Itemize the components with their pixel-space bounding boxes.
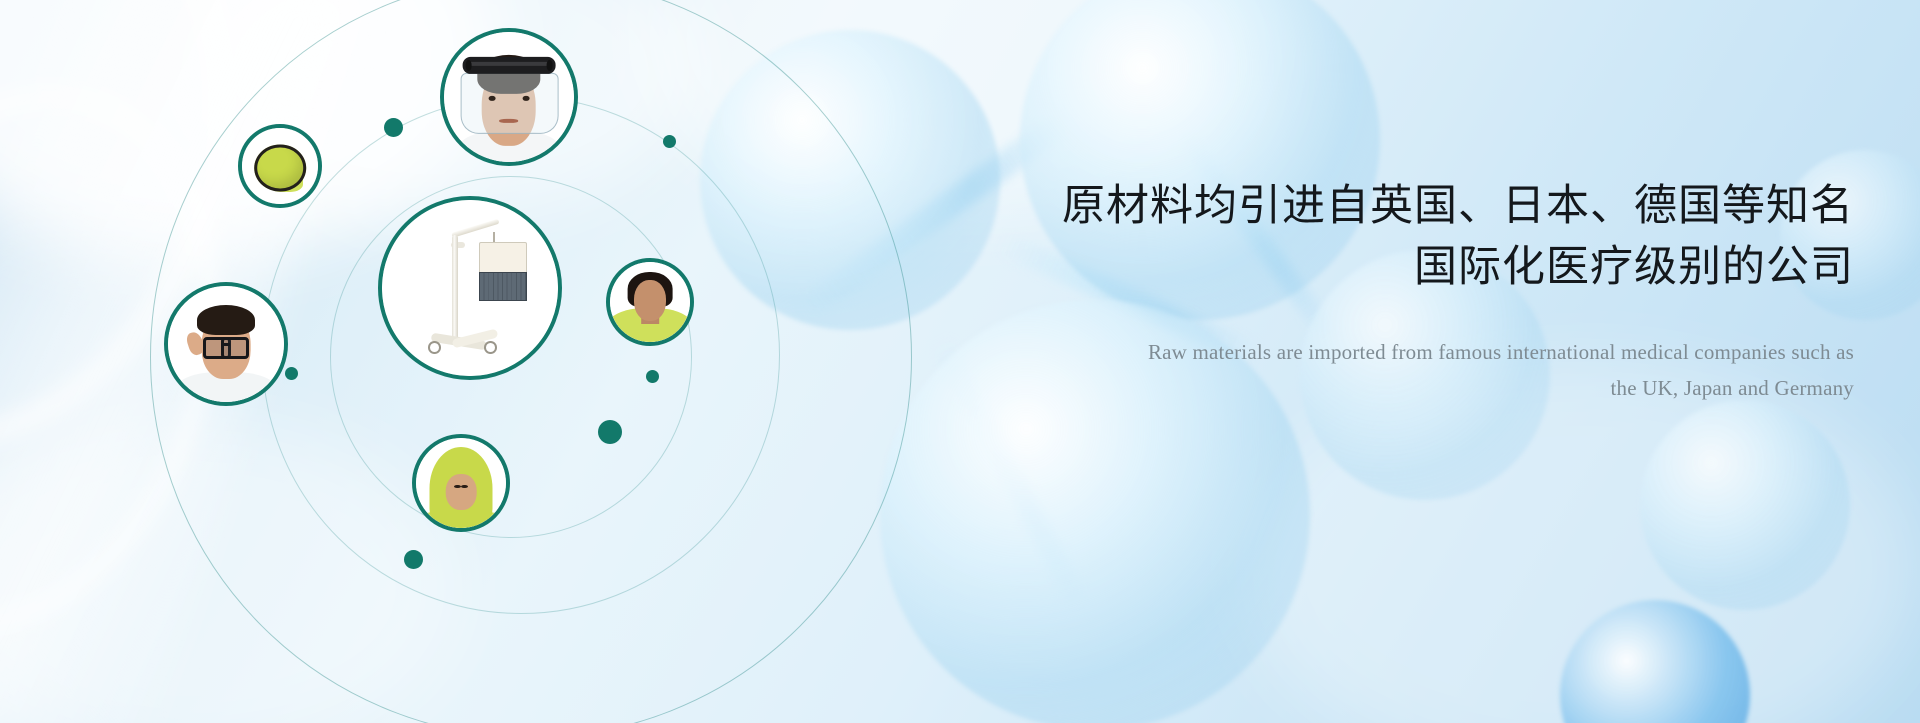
product-bubble-protective-hood[interactable] [412, 434, 510, 532]
cloud-shape [1240, 360, 1920, 723]
lead-cap-icon [242, 128, 318, 204]
product-bubble-lead-glasses[interactable] [164, 282, 288, 406]
subtitle-line-2: the UK, Japan and Germany [1054, 370, 1854, 407]
molecule-sphere [1640, 400, 1850, 610]
product-bubble-thyroid-collar-cape[interactable] [606, 258, 694, 346]
face-shield-icon [444, 32, 574, 162]
headline-line-2: 国际化医疗级别的公司 [1054, 239, 1854, 296]
subtitle-block: Raw materials are imported from famous i… [1054, 334, 1854, 408]
orbit-node-2 [663, 135, 676, 148]
thyroid-collar-icon [610, 262, 690, 342]
banner-text-block: 原材料均引进自英国、日本、德国等知名 国际化医疗级别的公司 Raw materi… [1054, 178, 1854, 407]
molecule-sphere [1560, 600, 1750, 723]
headline-line-1: 原材料均引进自英国、日本、德国等知名 [1054, 178, 1854, 235]
orbit-node-1 [384, 118, 403, 137]
orbit-node-5 [598, 420, 622, 444]
product-bubble-face-shield-helmet[interactable] [440, 28, 578, 166]
orbit-node-3 [285, 367, 298, 380]
product-bubble-mobile-xray-shield[interactable] [378, 196, 562, 380]
subtitle-line-1: Raw materials are imported from famous i… [1054, 334, 1854, 371]
lead-glasses-icon [168, 286, 284, 402]
orbit-node-4 [646, 370, 659, 383]
protective-hood-icon [416, 438, 506, 528]
product-bubble-lead-cap[interactable] [238, 124, 322, 208]
xray-shield-icon [382, 200, 558, 376]
orbit-node-6 [404, 550, 423, 569]
hero-banner: 原材料均引进自英国、日本、德国等知名 国际化医疗级别的公司 Raw materi… [0, 0, 1920, 723]
